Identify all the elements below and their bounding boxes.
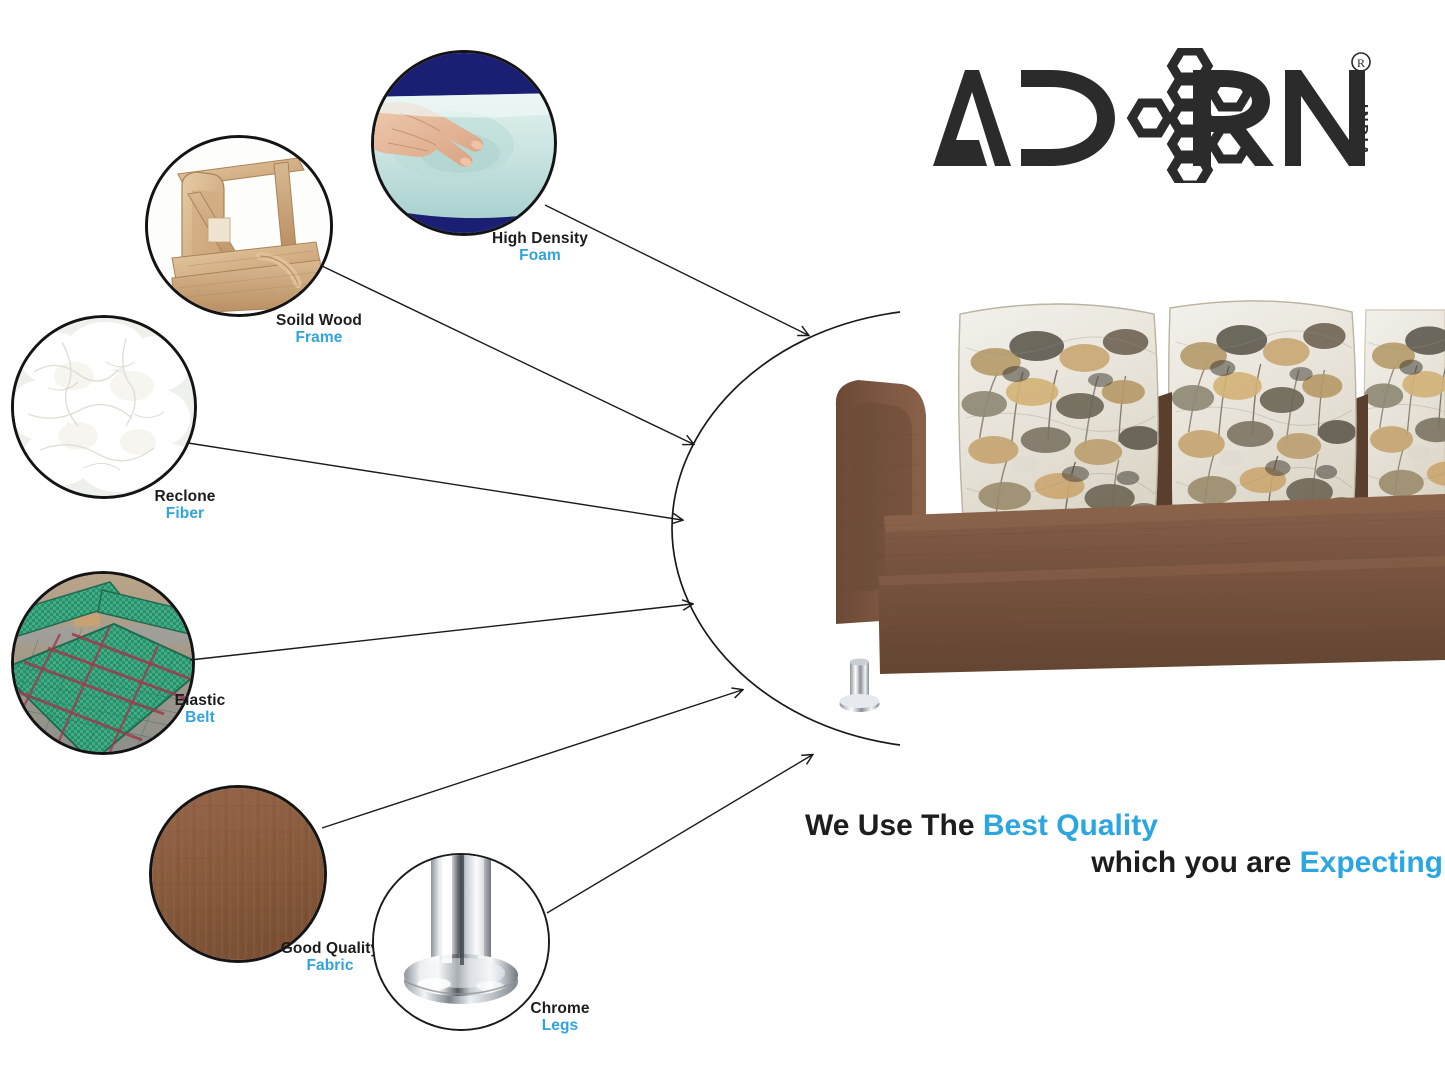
registered-trademark-icon: R <box>1352 53 1370 71</box>
wood-frame-icon <box>148 138 330 314</box>
connector-foam <box>545 205 808 335</box>
brand-logo: INDIA R <box>925 48 1380 183</box>
caption-line2: Fiber <box>45 505 325 522</box>
feature-caption-solid-wood-frame: Soild Wood Frame <box>178 312 460 347</box>
caption-line1: Reclone <box>45 488 325 505</box>
connector-fabric <box>322 690 742 828</box>
connector-chrome-legs <box>547 755 812 913</box>
caption-line2: Belt <box>60 709 340 726</box>
svg-text:R: R <box>1357 56 1365 70</box>
foam-icon <box>374 53 554 233</box>
feature-caption-reclone-fiber: Reclone Fiber <box>45 488 325 523</box>
feature-caption-high-density-foam: High Density Foam <box>400 230 680 265</box>
brand-sub-text: INDIA <box>1354 104 1371 158</box>
caption-line1: Chrome <box>430 1000 690 1017</box>
tagline-line1-accent: Best Quality <box>983 809 1158 842</box>
fabric-swatch-icon <box>152 788 324 960</box>
tagline-line2-plain: which you are <box>1091 846 1299 879</box>
tagline-line2-accent: Expecting <box>1300 846 1443 879</box>
connector-elastic-belt <box>190 604 692 660</box>
connector-wood-frame <box>322 266 693 444</box>
caption-line1: Soild Wood <box>178 312 460 329</box>
brand-logo-mark: INDIA R <box>925 48 1380 183</box>
tagline-line-2: which you are Expecting <box>805 845 1445 882</box>
tagline-line1-plain: We Use The <box>805 809 983 842</box>
caption-line2: Legs <box>430 1017 690 1034</box>
feature-caption-chrome-legs: Chrome Legs <box>430 1000 690 1035</box>
product-sofa-image <box>828 288 1445 720</box>
tagline-line-1: We Use The Best Quality <box>805 808 1445 845</box>
sofa-illustration <box>828 288 1445 720</box>
infographic-canvas: INDIA R <box>0 0 1445 1084</box>
caption-line2: Foam <box>400 247 680 264</box>
caption-line1: Elastic <box>60 692 340 709</box>
caption-line1: High Density <box>400 230 680 247</box>
tagline: We Use The Best Quality which you are Ex… <box>805 808 1445 908</box>
fiber-icon <box>14 318 194 496</box>
feature-caption-elastic-belt: Elastic Belt <box>60 692 340 727</box>
caption-line2: Frame <box>178 329 460 346</box>
